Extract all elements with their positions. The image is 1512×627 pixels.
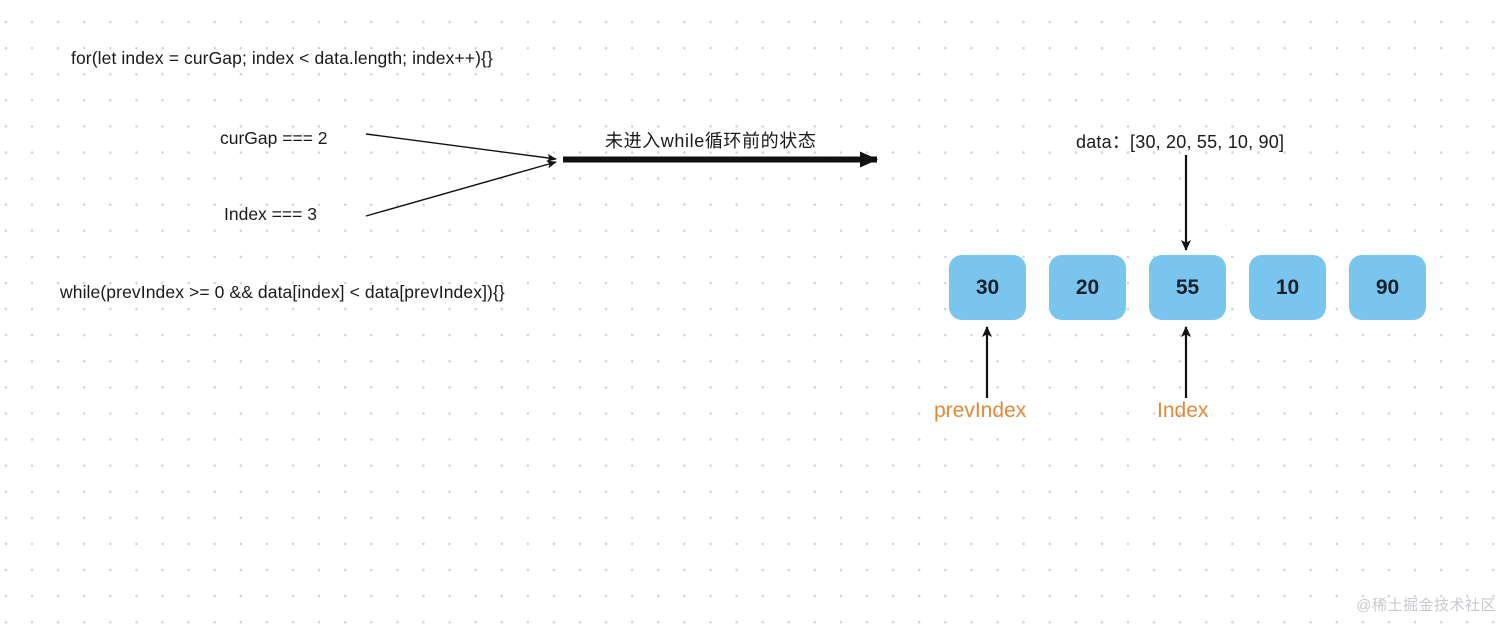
array-visualization: 30 20 55 10 90: [949, 255, 1426, 320]
stage-label: 未进入while循环前的状态: [605, 132, 816, 150]
diagram-canvas: for(let index = curGap; index < data.len…: [0, 0, 1512, 627]
previndex-marker-label: prevIndex: [934, 399, 1026, 423]
index-connector-line: [366, 162, 556, 216]
curgap-note-label: curGap === 2: [220, 130, 328, 148]
array-cell[interactable]: 55: [1149, 255, 1226, 320]
for-loop-code-text: for(let index = curGap; index < data.len…: [71, 50, 493, 68]
while-loop-code-text: while(prevIndex >= 0 && data[index] < da…: [60, 284, 505, 302]
data-array-label: data：[30, 20, 55, 10, 90]: [1076, 133, 1284, 151]
array-cell[interactable]: 30: [949, 255, 1026, 320]
array-cell[interactable]: 10: [1249, 255, 1326, 320]
watermark: @稀土掘金技术社区: [1356, 594, 1496, 615]
array-cell[interactable]: 90: [1349, 255, 1426, 320]
array-cell[interactable]: 20: [1049, 255, 1126, 320]
curgap-connector-line: [366, 134, 556, 159]
index-marker-label: Index: [1157, 399, 1208, 423]
index-note-label: Index === 3: [224, 206, 317, 224]
